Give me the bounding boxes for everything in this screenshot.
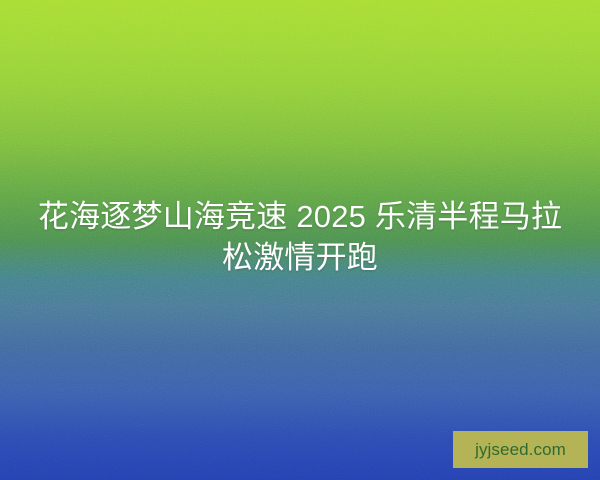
watermark-label: jyjseed.com <box>475 441 566 458</box>
banner-image: 花海逐梦山海竞速 2025 乐清半程马拉松激情开跑 jyjseed.com <box>0 0 600 480</box>
title-text: 花海逐梦山海竞速 2025 乐清半程马拉松激情开跑 <box>36 196 564 278</box>
page-title: 花海逐梦山海竞速 2025 乐清半程马拉松激情开跑 <box>0 196 600 278</box>
watermark-badge: jyjseed.com <box>453 431 588 468</box>
